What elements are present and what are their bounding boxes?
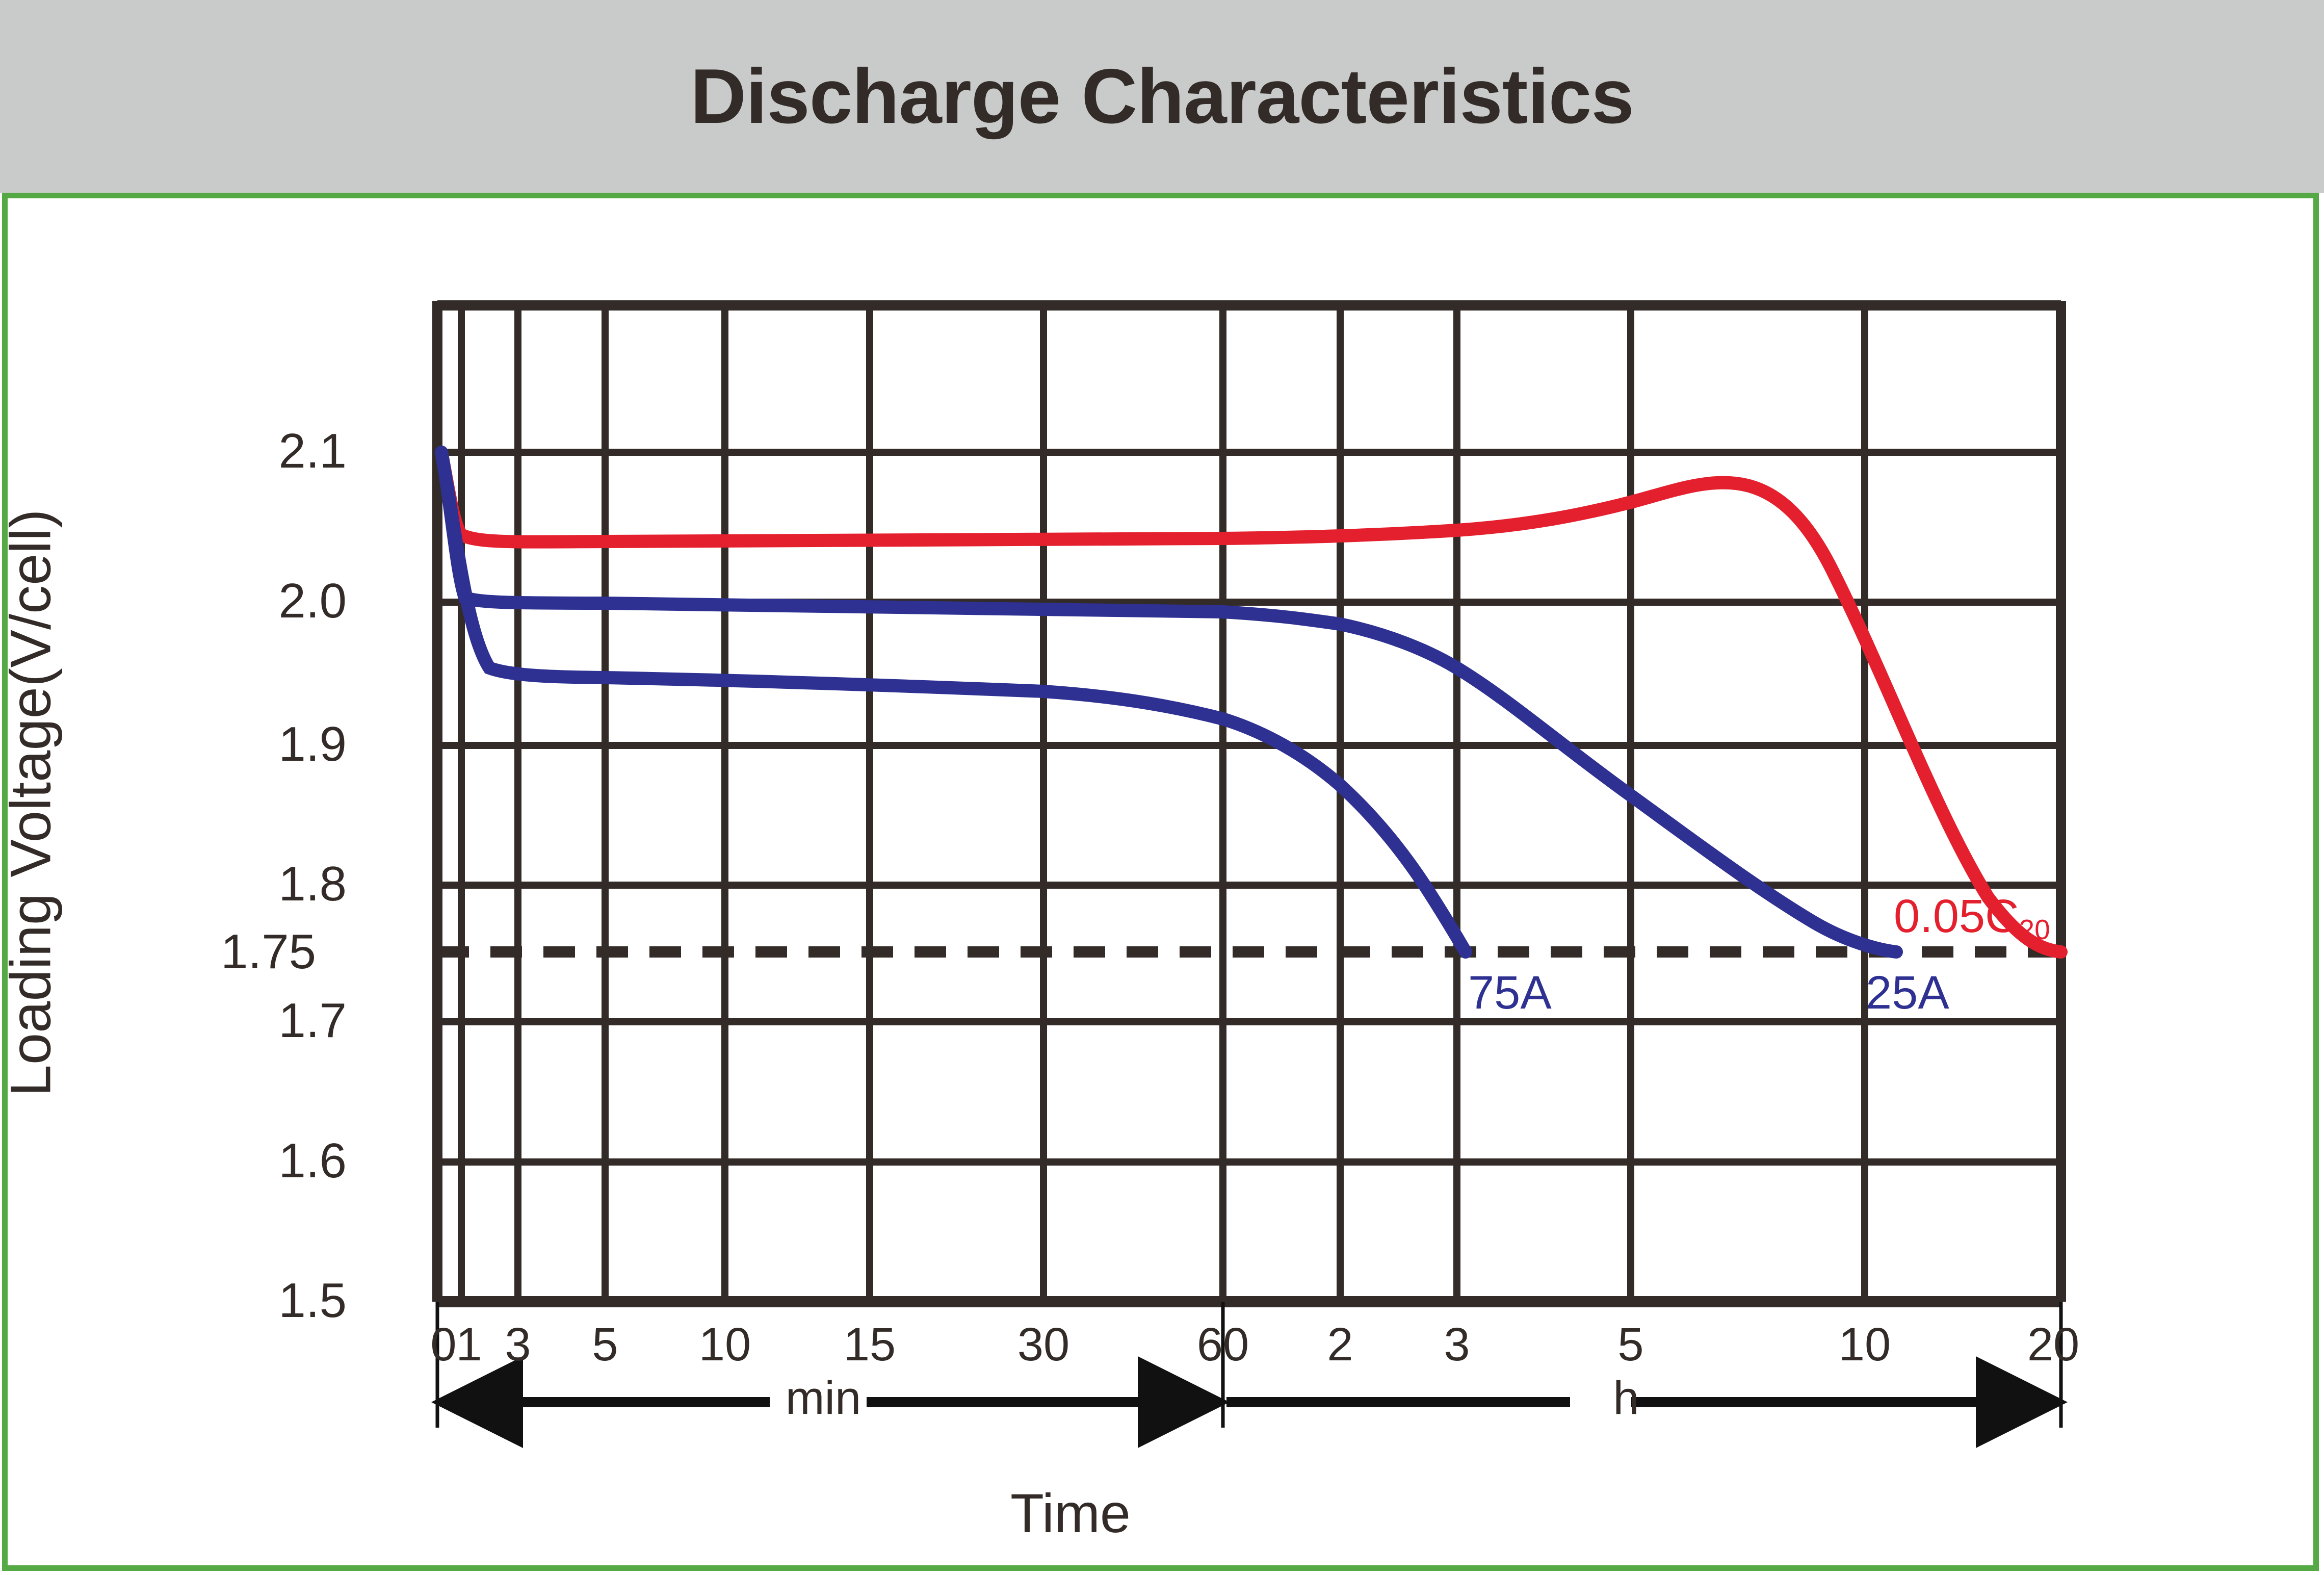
y-tick-2-0: 2.0 [133,573,347,629]
x-tick-15: 15 [819,1318,921,1372]
series-label-0-05c20-subscript: 20 [2019,914,2050,945]
y-tick-1-75: 1.75 [102,924,316,980]
y-tick-1-9: 1.9 [133,716,347,772]
x-tick-30: 30 [993,1318,1094,1372]
x-tick-3: 3 [467,1318,569,1372]
y-axis-title: Loading Voltage(V/cell) [0,421,64,1185]
series-label-75a: 75A [1468,966,1552,1020]
discharge-characteristics-chart: Loading Voltage(V/cell) 2.1 2.0 1.9 1.8 … [0,0,2324,1575]
y-tick-1-5: 1.5 [133,1273,347,1329]
y-tick-2-1: 2.1 [133,423,347,479]
chart-svg [0,0,2324,1575]
series-label-0-05c20: 0.05C20 [1894,890,2050,943]
series-label-25a: 25A [1866,966,1949,1020]
y-tick-1-7: 1.7 [133,993,347,1049]
x-tick-5h: 5 [1580,1318,1682,1372]
axis-unit-hour: h [1570,1372,1682,1425]
axis-unit-min: min [767,1372,879,1425]
x-tick-3h: 3 [1406,1318,1508,1372]
y-tick-1-8: 1.8 [133,856,347,912]
x-tick-2h: 2 [1289,1318,1391,1372]
x-tick-10: 10 [674,1318,776,1372]
x-tick-10h: 10 [1814,1318,1916,1372]
page-root: Discharge Characteristics [0,0,2324,1575]
x-tick-60: 60 [1172,1318,1274,1372]
y-tick-1-6: 1.6 [133,1133,347,1189]
series-label-0-05c20-main: 0.05C [1894,890,2019,942]
x-tick-5: 5 [554,1318,656,1372]
x-tick-20h: 20 [2002,1318,2104,1372]
x-axis-title: Time [816,1481,1325,1545]
